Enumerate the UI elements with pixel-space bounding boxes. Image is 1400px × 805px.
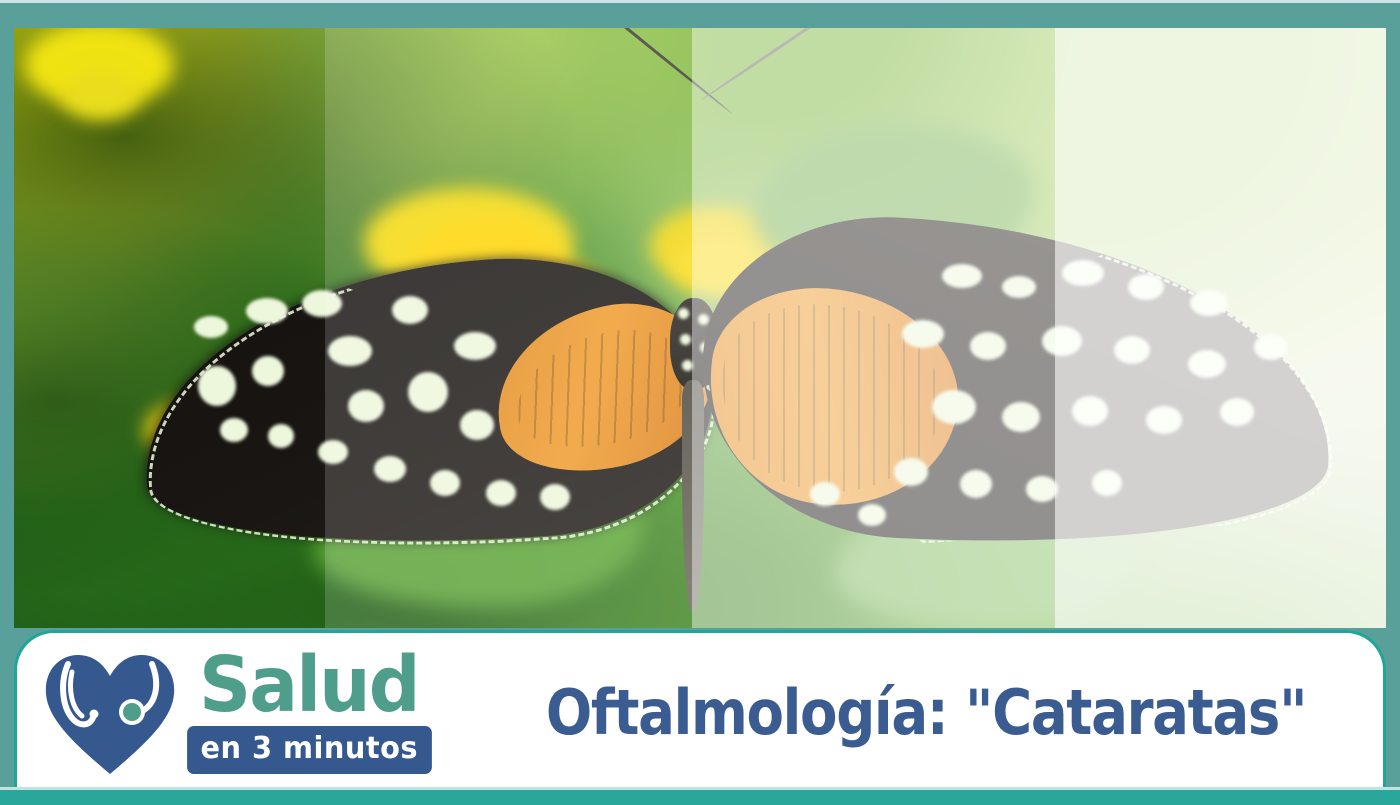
butterfly-abdomen <box>682 380 704 612</box>
butterfly-illustration <box>142 84 1332 614</box>
wing-spot <box>460 410 494 440</box>
wing-spot <box>970 332 1006 360</box>
wing-spot <box>194 316 228 338</box>
brand-name: Salud <box>199 653 419 719</box>
wing-spot <box>486 480 516 506</box>
brand-logo[interactable]: Salud en 3 minutos <box>42 652 437 776</box>
wing-spot <box>1026 476 1058 502</box>
brand-tagline-badge: en 3 minutos <box>187 726 431 774</box>
wing-spot <box>220 418 248 442</box>
wing-spot <box>540 484 570 510</box>
wing-spot <box>1042 326 1082 356</box>
wing-spot <box>1002 276 1036 298</box>
wing-spot <box>392 296 428 324</box>
title-card: Salud en 3 minutos Oftalmología: "Catara… <box>14 630 1386 790</box>
wing-spot <box>454 332 496 360</box>
wing-spot <box>348 390 384 422</box>
wing-spot <box>328 336 372 366</box>
wing-spot <box>960 470 992 498</box>
wing-spot <box>1190 290 1228 316</box>
wing-spot <box>268 424 294 448</box>
wing-spot <box>302 290 342 317</box>
wing-spot <box>1146 406 1182 434</box>
wing-spot <box>1072 396 1108 426</box>
wing-spot <box>246 298 288 324</box>
video-thumbnail-frame: Salud en 3 minutos Oftalmología: "Catara… <box>0 0 1400 805</box>
wing-spot <box>1188 350 1226 378</box>
wing-spot <box>1254 334 1288 360</box>
hero-photo <box>14 28 1386 628</box>
photo-canvas <box>14 28 1386 628</box>
wing-spot <box>1114 336 1150 364</box>
wing-spot <box>1002 402 1040 432</box>
bottom-accent-bar <box>0 790 1400 805</box>
wing-spot <box>1220 398 1254 426</box>
wing-spot <box>408 372 448 412</box>
wing-spot <box>810 482 840 506</box>
wing-spot <box>374 456 406 482</box>
flower-petal-a <box>62 68 140 120</box>
wing-spot <box>198 366 236 406</box>
wing-spot <box>942 264 982 288</box>
wing-spot <box>932 390 976 424</box>
wing-spot <box>858 504 886 526</box>
wing-spot <box>318 440 348 464</box>
thorax-spot <box>680 334 691 345</box>
heart-stethoscope-icon <box>42 652 178 776</box>
thorax-spot <box>678 308 689 319</box>
wing-spot <box>1062 260 1104 286</box>
thorax-spot <box>682 360 693 371</box>
brand-wordmark: Salud en 3 minutos <box>182 653 437 773</box>
episode-title: Oftalmología: "Cataratas" <box>546 682 1306 744</box>
frame-top-highlight <box>0 0 1400 3</box>
wing-spot <box>430 470 460 496</box>
wing-spot <box>252 356 284 386</box>
thorax-spot <box>698 314 709 325</box>
wing-spot <box>902 320 944 348</box>
wing-spot <box>1128 274 1164 300</box>
wing-spot <box>1092 470 1122 496</box>
wing-spot <box>894 458 928 486</box>
